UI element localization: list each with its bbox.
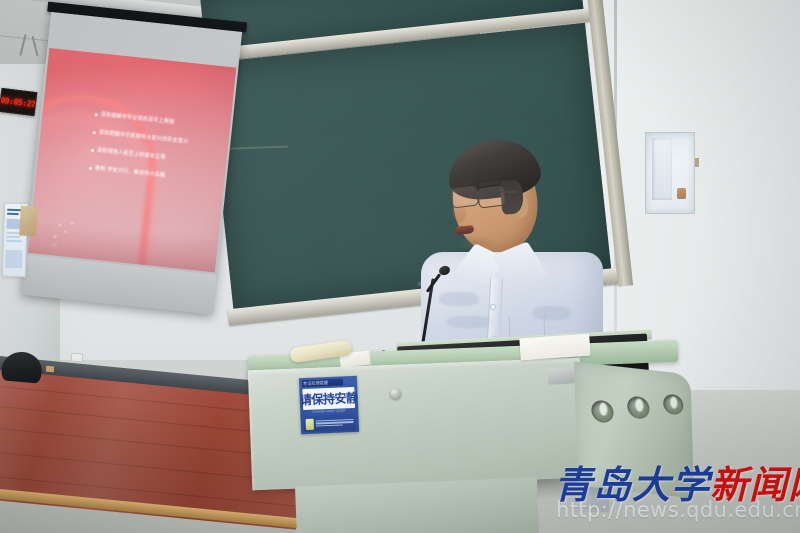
desk-equipment[interactable]: [548, 367, 575, 384]
lecture-hall-photo: 深刻理解并牢记党的百年上辉煌 深刻把握中华民族伟大复兴的历史意义 深刻领悟人民至…: [0, 0, 800, 533]
wall-outlet: [71, 352, 84, 362]
glasses-temple: [501, 191, 517, 193]
sign-footer-lines: [316, 419, 354, 427]
presentation-slide: 深刻理解并牢记党的百年上辉煌 深刻把握中华民族伟大复兴的历史意义 深刻领悟人民至…: [28, 48, 237, 273]
podium-lectern: [248, 336, 708, 533]
wall-outlet-secondary: [46, 366, 54, 373]
sign-header-text: 考试纪律提醒: [303, 380, 328, 387]
led-clock-sign: 09:05:27: [0, 88, 37, 116]
slide-bullet-item: 深刻把握中华民族伟大复兴的历史意义: [93, 129, 219, 148]
keep-quiet-sign: 考试纪律提醒 请保持安静 PLEASE KEEP QUIET: [299, 376, 359, 434]
podium-keyhole-lock[interactable]: [390, 388, 401, 399]
niche-inner-panel: [652, 138, 672, 200]
podium-side-panel: [574, 361, 694, 498]
slide-bullet-text: 做到 学史力行，推动伟大实践: [95, 165, 166, 178]
slide-footer-mark: 7.1: [51, 242, 58, 248]
podium-base: [295, 477, 539, 533]
slide-bullet-text: 深刻领悟人民至上的根本立场: [97, 148, 166, 161]
led-clock-text: 09:05:27: [0, 95, 36, 108]
slide-bullet-item: 做到 学史力行，推动伟大实践: [89, 165, 215, 184]
sign-subtitle: PLEASE KEEP QUIET: [306, 408, 352, 414]
screen-surface: 深刻理解并牢记党的百年上辉煌 深刻把握中华民族伟大复兴的历史意义 深刻领悟人民至…: [21, 12, 242, 315]
sign-badge-icon: [306, 418, 314, 429]
slide-bullet-list: 深刻理解并牢记党的百年上辉煌 深刻把握中华民族伟大复兴的历史意义 深刻领悟人民至…: [88, 111, 221, 196]
bullet-dot-icon: [95, 113, 98, 116]
wall-tag: [695, 158, 699, 167]
sign-main-plate: 请保持安静: [302, 387, 355, 410]
bullet-dot-icon: [89, 166, 92, 169]
bullet-dot-icon: [93, 130, 96, 133]
sign-header-band: 考试纪律提醒: [302, 378, 343, 387]
bullet-dot-icon: [91, 148, 94, 151]
wall-notice-card: [19, 206, 38, 237]
slide-bullet-text: 深刻把握中华民族伟大复兴的历史意义: [99, 130, 189, 145]
projector-screen: 深刻理解并牢记党的百年上辉煌 深刻把握中华民族伟大复兴的历史意义 深刻领悟人民至…: [21, 4, 243, 322]
sign-footer-band: [303, 414, 356, 432]
glasses-lens-right: [477, 185, 506, 208]
sign-main-text: 请保持安静: [300, 391, 358, 405]
slide-bullet-item: 深刻领悟人民至上的根本立场: [91, 147, 217, 166]
wall-niche: [645, 132, 695, 214]
shirt-button: [490, 304, 496, 310]
niche-knob: [677, 188, 686, 199]
